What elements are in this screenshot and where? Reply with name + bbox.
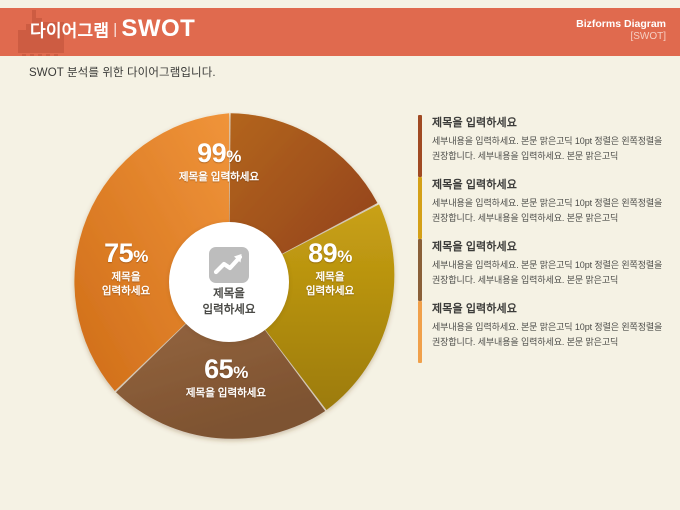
legend-block-title: 제목을 입력하세요 <box>432 176 668 192</box>
legend-block-body: 세부내용을 입력하세요. 본문 맑은고딕 10pt 정렬은 왼쪽정렬을 권장합니… <box>432 258 668 287</box>
legend-block[interactable]: 제목을 입력하세요 세부내용을 입력하세요. 본문 맑은고딕 10pt 정렬은 … <box>418 114 668 163</box>
legend-block[interactable]: 제목을 입력하세요 세부내용을 입력하세요. 본문 맑은고딕 10pt 정렬은 … <box>418 238 668 287</box>
legend-block-title: 제목을 입력하세요 <box>432 114 668 130</box>
legend-accent-bar <box>418 301 422 363</box>
growth-chart-arrow-icon <box>207 245 251 285</box>
header-brand: Bizforms Diagram [SWOT] <box>576 18 666 44</box>
donut-center-label-line1: 제목을 <box>203 287 256 303</box>
page-title-korean: 다이어그램 <box>30 22 109 41</box>
header-brand-code: [SWOT] <box>576 31 666 44</box>
top-margin-strip <box>0 0 680 8</box>
page-title: 다이어그램|SWOT <box>30 15 195 43</box>
legend-accent-bar <box>418 177 422 239</box>
legend-block[interactable]: 제목을 입력하세요 세부내용을 입력하세요. 본문 맑은고딕 10pt 정렬은 … <box>418 300 668 349</box>
legend-block-title: 제목을 입력하세요 <box>432 238 668 254</box>
legend-text-blocks: 제목을 입력하세요 세부내용을 입력하세요. 본문 맑은고딕 10pt 정렬은 … <box>418 114 668 363</box>
legend-block-body: 세부내용을 입력하세요. 본문 맑은고딕 10pt 정렬은 왼쪽정렬을 권장합니… <box>432 196 668 225</box>
legend-block-body: 세부내용을 입력하세요. 본문 맑은고딕 10pt 정렬은 왼쪽정렬을 권장합니… <box>432 134 668 163</box>
legend-accent-bar <box>418 239 422 301</box>
legend-block[interactable]: 제목을 입력하세요 세부내용을 입력하세요. 본문 맑은고딕 10pt 정렬은 … <box>418 176 668 225</box>
legend-block-title: 제목을 입력하세요 <box>432 300 668 316</box>
legend-accent-bar <box>418 115 422 177</box>
page-subtitle: SWOT 분석를 위한 다이어그램입니다. <box>29 64 216 80</box>
donut-center[interactable]: 제목을 입력하세요 <box>169 222 289 342</box>
swot-donut-chart: 제목을 입력하세요 99% 제목을 입력하세요 89% 제목을 입력하세요 65… <box>58 112 400 452</box>
page-title-english: SWOT <box>121 15 195 42</box>
legend-block-body: 세부내용을 입력하세요. 본문 맑은고딕 10pt 정렬은 왼쪽정렬을 권장합니… <box>432 320 668 349</box>
page-title-separator: | <box>109 21 121 38</box>
page-header: 다이어그램|SWOT Bizforms Diagram [SWOT] <box>0 8 680 56</box>
header-brand-name: Bizforms Diagram <box>576 18 666 31</box>
donut-center-label-line2: 입력하세요 <box>203 303 256 319</box>
